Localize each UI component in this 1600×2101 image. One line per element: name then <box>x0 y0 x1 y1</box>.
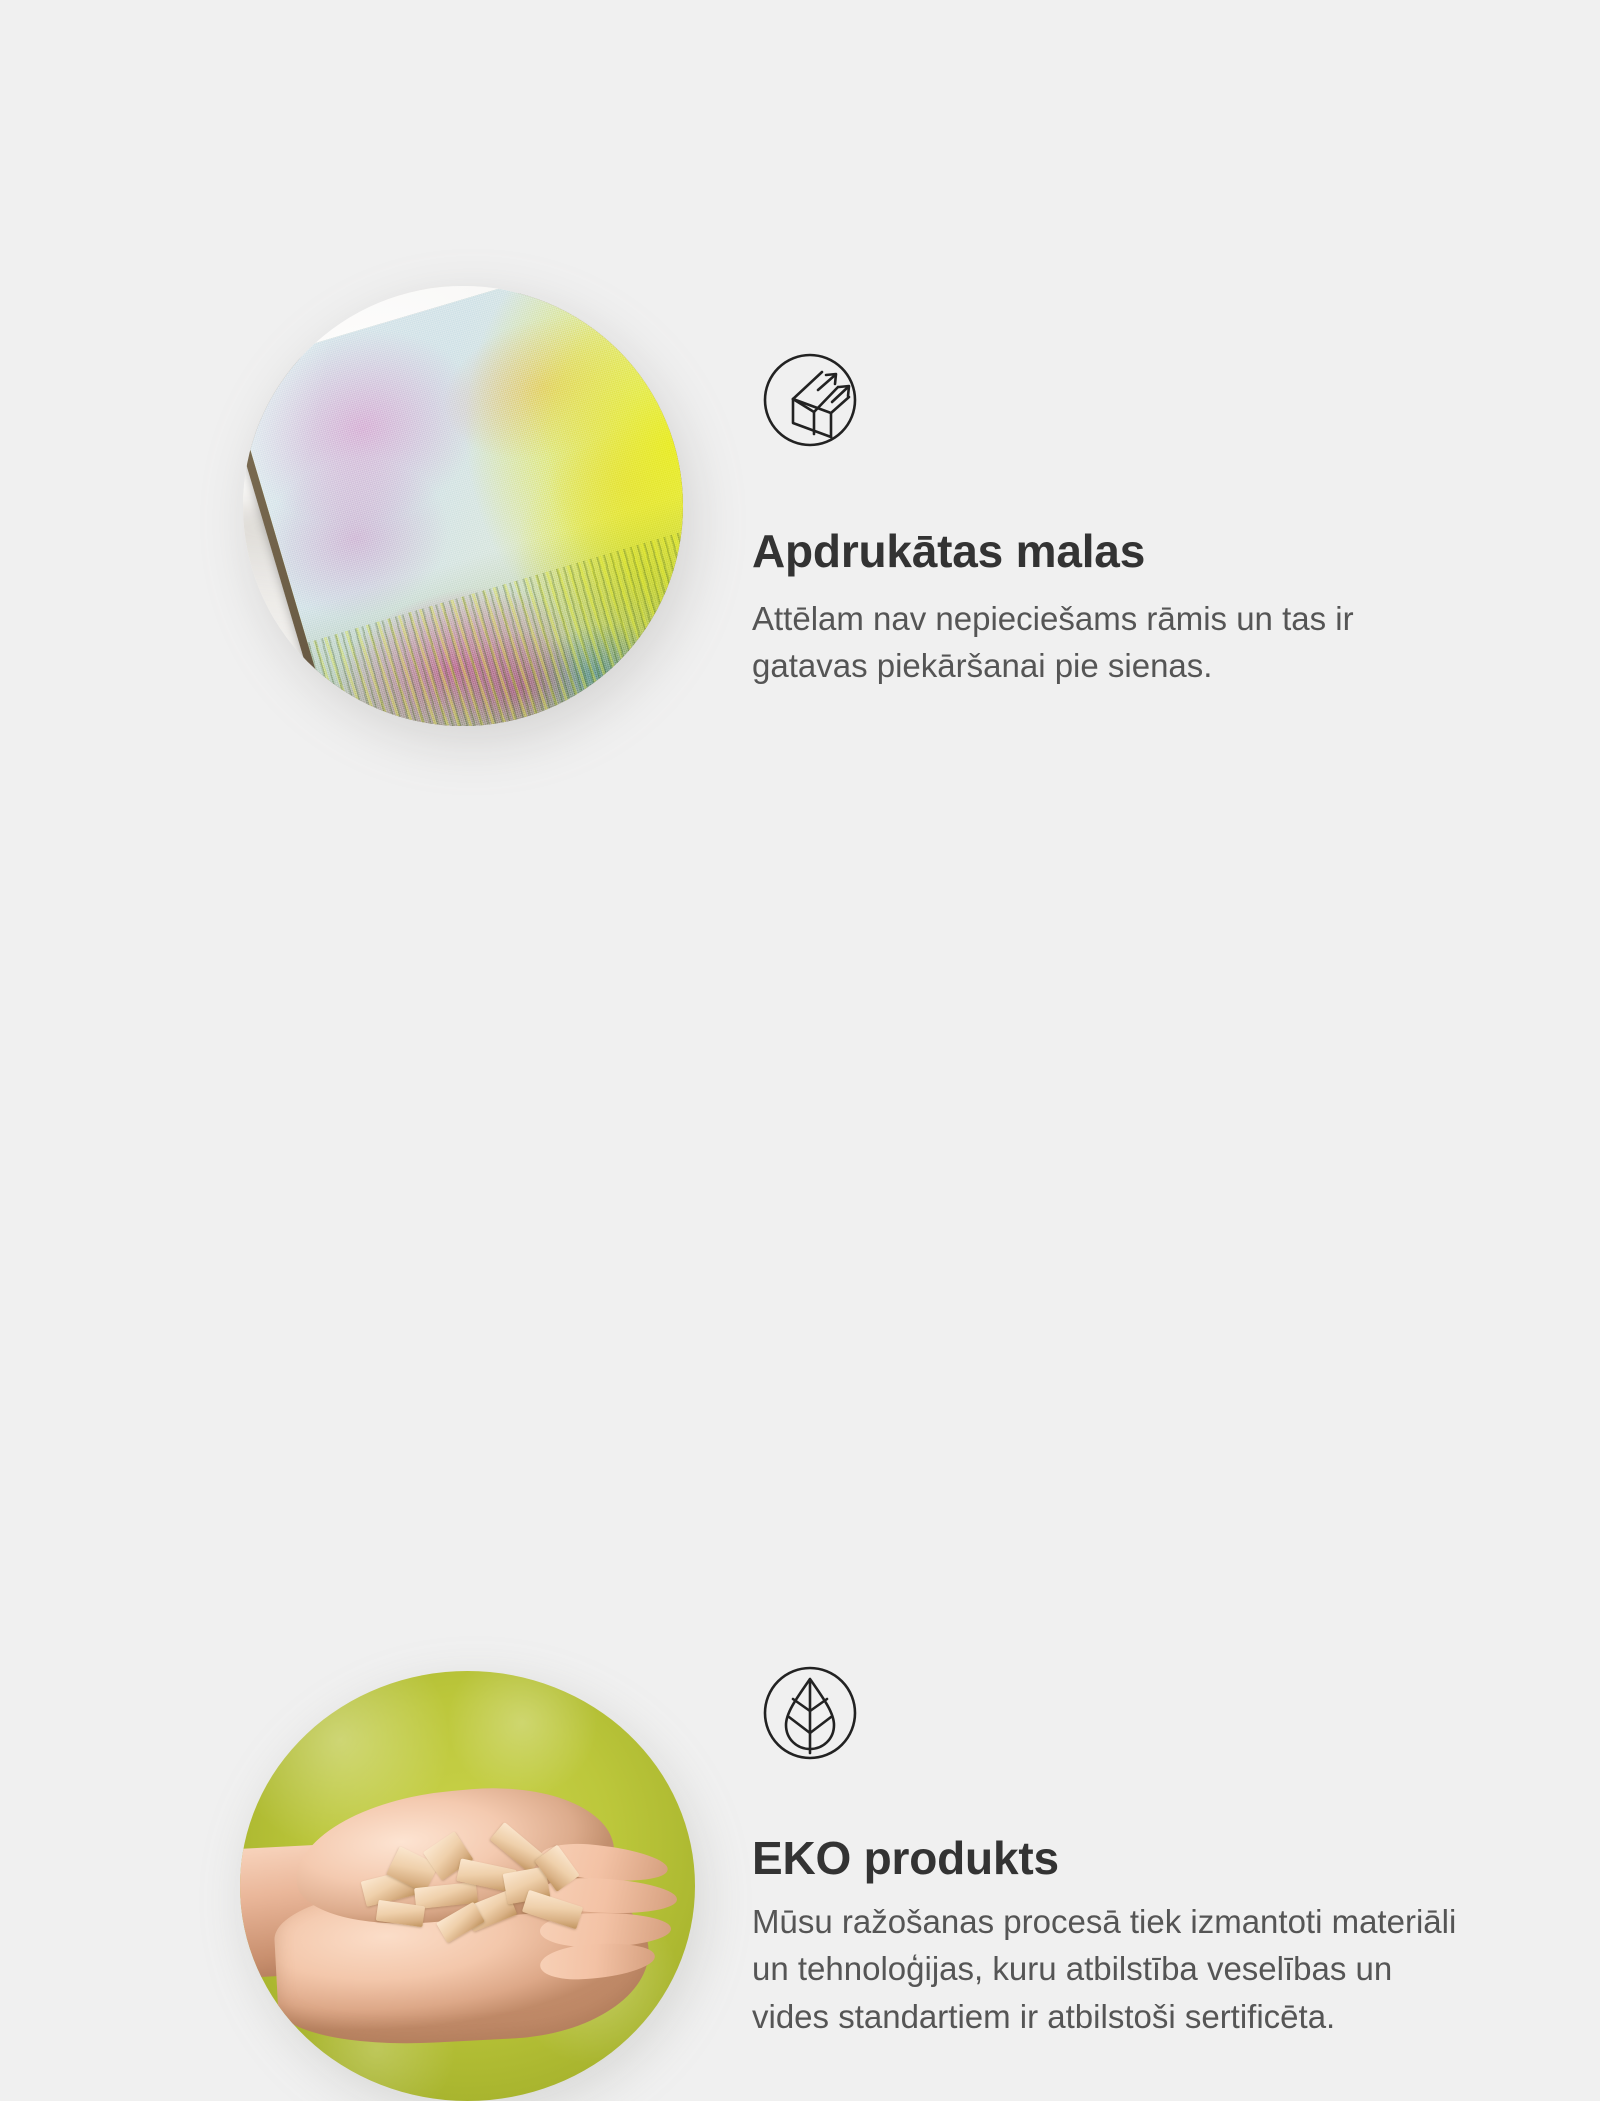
feature-title: Apdrukātas malas <box>752 526 1482 577</box>
feature-description: Attēlam nav nepieciešams rāmis un tas ir… <box>752 595 1452 691</box>
feature-copy-eko-product: EKO produkts Mūsu ražošanas procesā tiek… <box>752 1655 1482 2041</box>
feature-title: EKO produkts <box>752 1833 1482 1884</box>
feature-highlights-page: Apdrukātas malas Attēlam nav nepieciešam… <box>0 0 1600 1600</box>
feature-copy-printed-edges: Apdrukātas malas Attēlam nav nepieciešam… <box>752 342 1482 690</box>
feature-description: Mūsu ražošanas procesā tiek izmantoti ma… <box>752 1898 1464 2042</box>
leaf-icon <box>752 1655 868 1771</box>
canvas-wrapped-edge-icon <box>752 342 868 458</box>
feature-block-eko-product: EKO produkts Mūsu ražošanas procesā tiek… <box>0 800 1600 1600</box>
hands-holding-wood-chips-photo <box>240 1671 695 2101</box>
photo-wood-chips-pile <box>358 1826 595 1955</box>
feature-block-printed-edges: Apdrukātas malas Attēlam nav nepieciešam… <box>0 0 1600 800</box>
canvas-print-corner-photo <box>243 286 683 726</box>
